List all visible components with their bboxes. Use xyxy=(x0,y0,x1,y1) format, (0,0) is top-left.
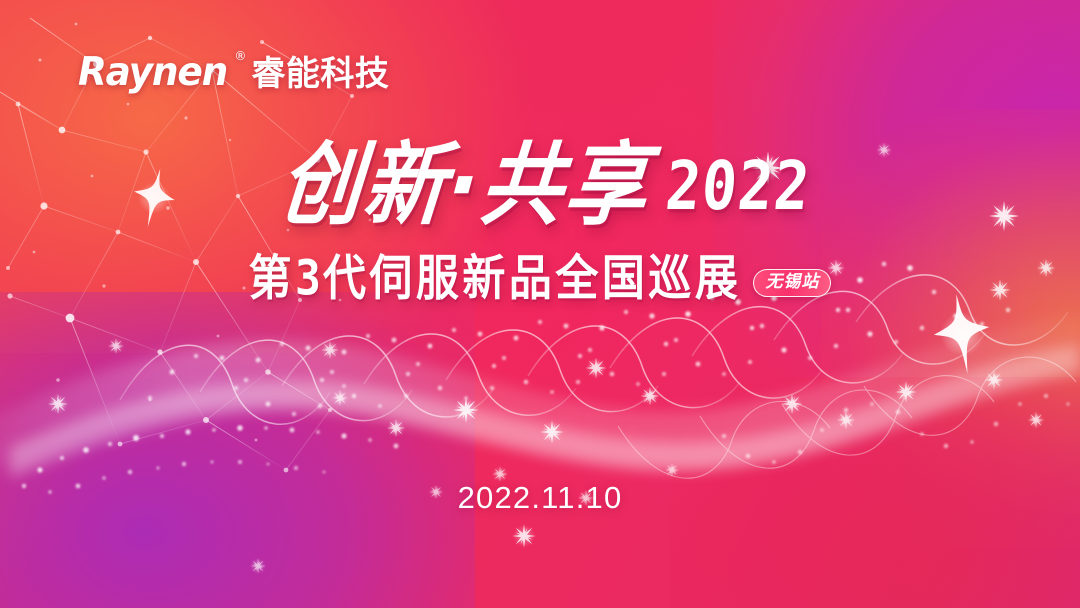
event-date: 2022.11.10 xyxy=(0,482,1080,513)
headline-main: 创新·共享 xyxy=(276,144,652,227)
promo-banner: Raynen ® 睿能科技 创新·共享 2022 第3代伺服新品全国巡展 无锡站… xyxy=(0,0,1080,608)
headline-year: 2022 xyxy=(663,154,813,221)
subheadline-suffix: 代伺服新品全国巡展 xyxy=(323,251,742,307)
headline-row: 创新·共享 2022 xyxy=(0,152,1080,227)
registered-trademark-icon: ® xyxy=(234,49,246,63)
city-stop-badge: 无锡站 xyxy=(753,269,831,297)
subheadline-prefix: 第 xyxy=(249,251,296,307)
subheadline-row: 第3代伺服新品全国巡展 无锡站 xyxy=(0,258,1080,301)
subheadline-text: 第3代伺服新品全国巡展 xyxy=(249,255,742,303)
subheadline-generation-number: 3 xyxy=(295,251,323,307)
brand-latin-name: Raynen xyxy=(78,53,227,92)
banner-content: Raynen ® 睿能科技 创新·共享 2022 第3代伺服新品全国巡展 无锡站… xyxy=(0,0,1080,608)
brand-logo: Raynen ® 睿能科技 xyxy=(78,46,389,92)
brand-chinese-name: 睿能科技 xyxy=(251,57,389,91)
